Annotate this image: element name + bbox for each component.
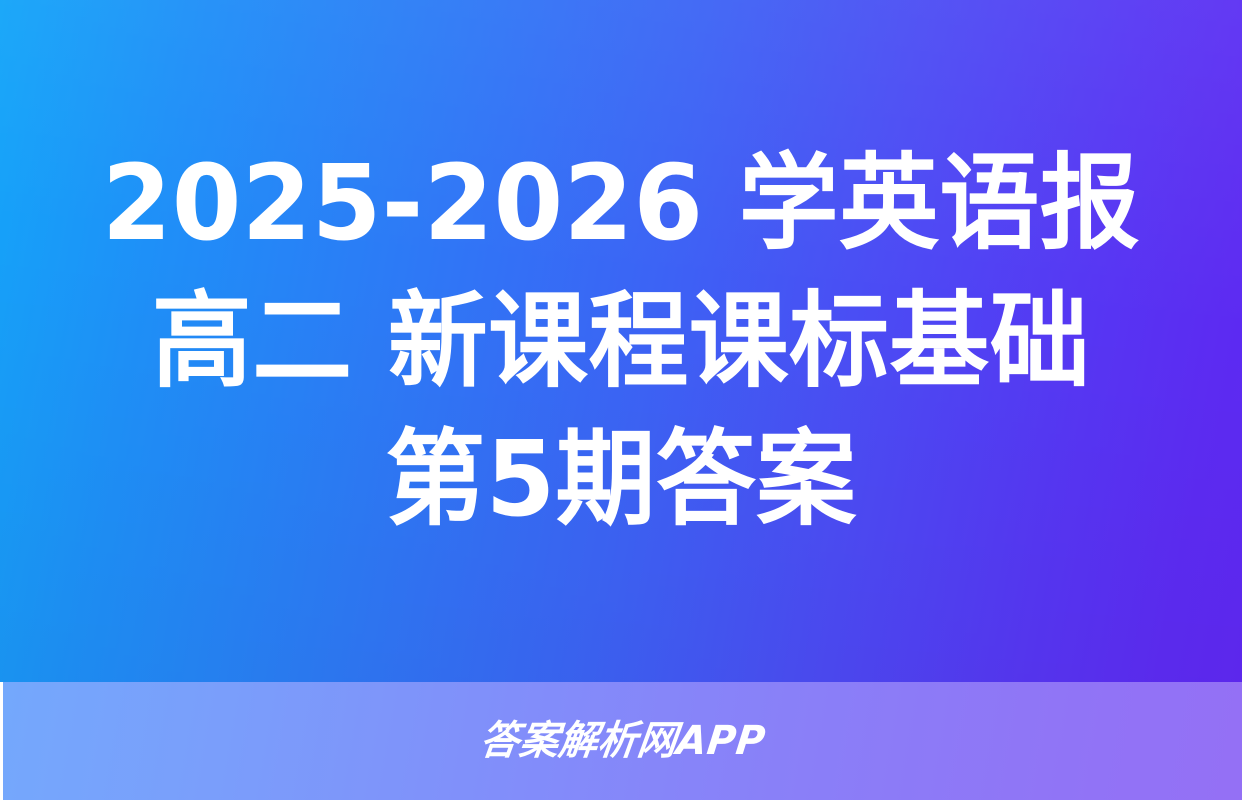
footer-bar: 答案解析网APP: [3, 682, 1242, 800]
headline-block: 2025-2026 学英语报 高二 新课程课标基础 第5期答案: [0, 0, 1242, 682]
poster-title: 2025-2026 学英语报 高二 新课程课标基础 第5期答案: [84, 134, 1157, 549]
poster-canvas: 2025-2026 学英语报 高二 新课程课标基础 第5期答案 答案解析网APP: [0, 0, 1242, 800]
app-brand-label: 答案解析网APP: [478, 721, 768, 761]
